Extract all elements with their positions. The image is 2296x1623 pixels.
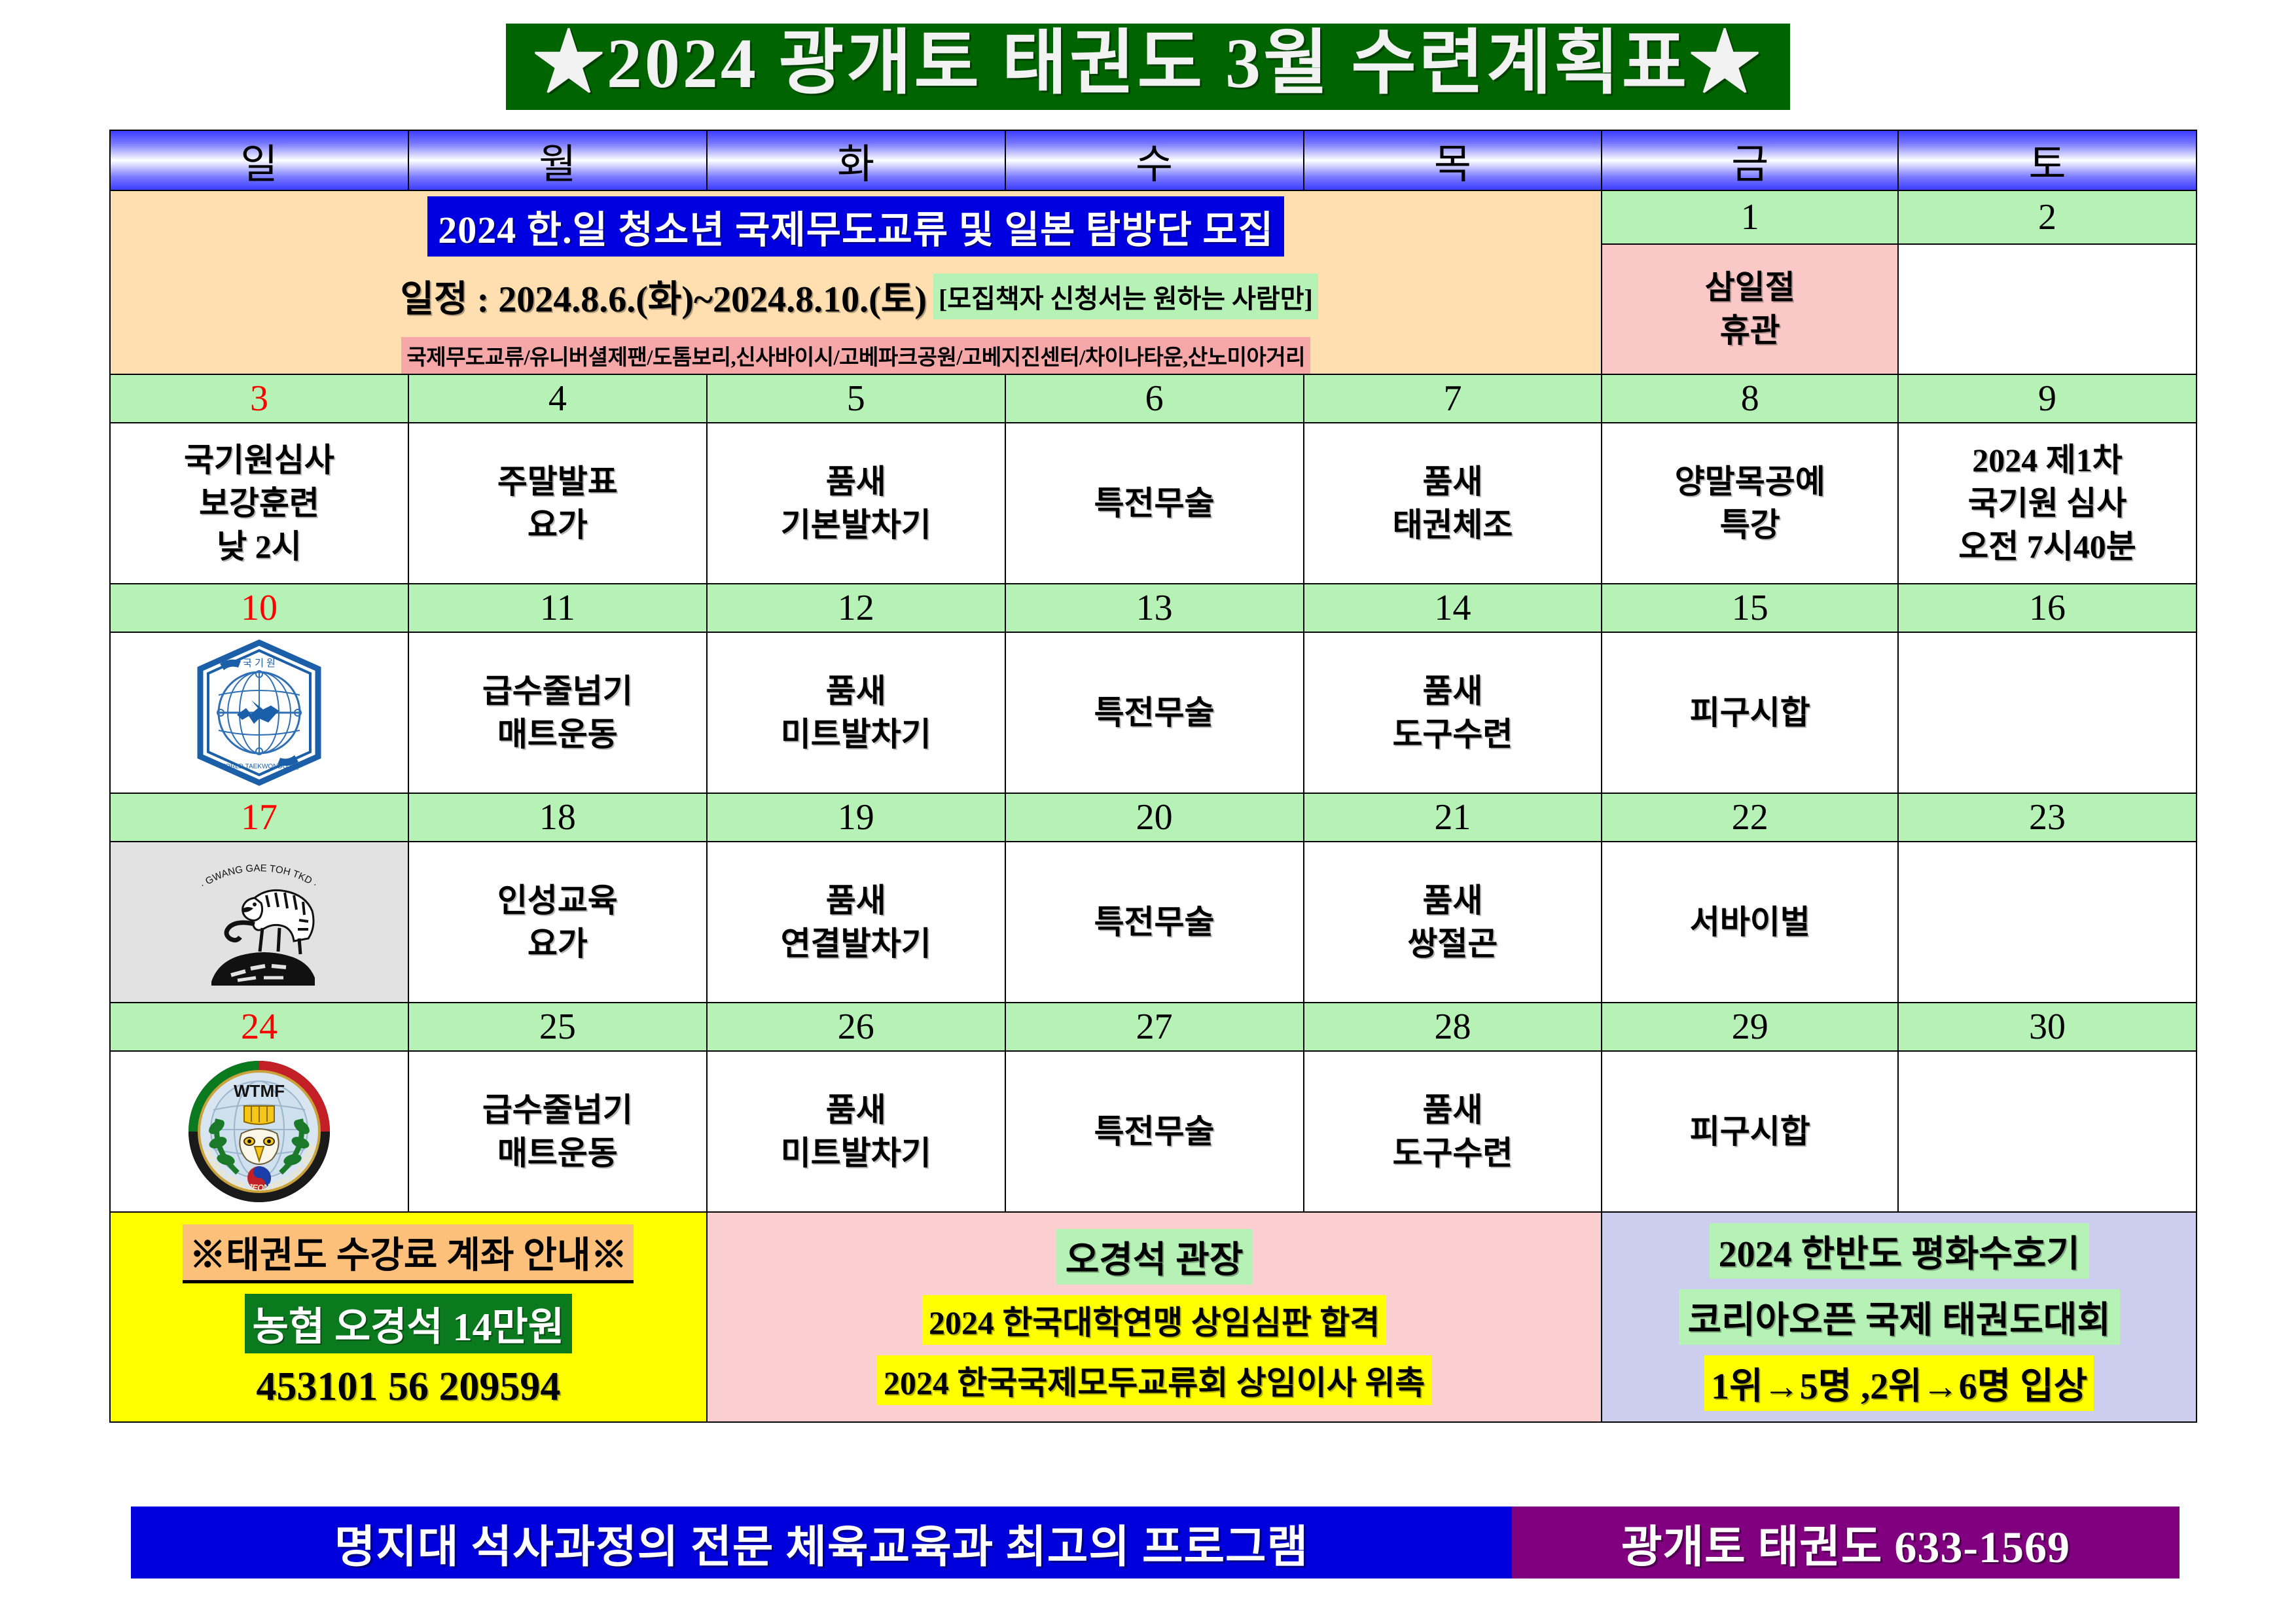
date-number-5: 5: [707, 374, 1005, 423]
announcement-schedule-row: 일정 : 2024.8.6.(화)~2024.8.10.(토)[모집책자 신청서…: [111, 270, 1601, 323]
kukkiwon-logo: 국 기 원 WORLD TAEKWONDO HQ: [181, 637, 338, 788]
date-number-13: 13: [1005, 584, 1304, 632]
banner-program-text: 명지대 석사과정의 전문 체육교육과 최고의 프로그램: [131, 1507, 1512, 1578]
date-number-30: 30: [1898, 1003, 2197, 1051]
date-number-17: 17: [110, 793, 408, 842]
event-line: 보강훈련: [111, 482, 408, 525]
weekday-sun: 일: [110, 130, 408, 190]
event-cell-5: 품새 기본발차기: [707, 423, 1005, 584]
date-number-16: 16: [1898, 584, 2197, 632]
master-credential-2: 2024 한국국제모두교류회 상임이사 위촉: [877, 1355, 1432, 1405]
event-cell-21: 품새 쌍절곤: [1304, 842, 1602, 1003]
event-line: 국기원 심사: [1899, 482, 2196, 525]
event-line: 요가: [409, 503, 706, 546]
event-line: 오전 7시40분: [1899, 525, 2196, 568]
event-line: 특전무술: [1006, 482, 1303, 525]
date-number-27: 27: [1005, 1003, 1304, 1051]
event-line: 양말목공예: [1602, 460, 1897, 503]
event-line: 매트운동: [409, 1132, 706, 1175]
event-cell-3: 국기원심사 보강훈련 낮 2시: [110, 423, 408, 584]
event-line: 삼일절: [1602, 266, 1897, 309]
event-line: 피구시합: [1602, 1110, 1897, 1153]
event-line: 품새: [1304, 669, 1602, 713]
tuition-bank-line: 농협 오경석 14만원: [245, 1294, 572, 1353]
weekday-header-row: 일 월 화 수 목 금 토: [110, 130, 2197, 190]
svg-text:국 기 원: 국 기 원: [243, 658, 276, 669]
event-cell-19: 품새 연결발차기: [707, 842, 1005, 1003]
event-line: 품새: [708, 1088, 1005, 1132]
page-title: ★2024 광개토 태권도 3월 수련계획표★: [506, 24, 1790, 110]
event-line: 품새: [1304, 460, 1602, 503]
event-cell-10: 국 기 원 WORLD TAEKWONDO HQ: [110, 632, 408, 793]
event-cell-8: 양말목공예 특강: [1602, 423, 1898, 584]
event-line: 품새: [708, 460, 1005, 503]
date-number-14: 14: [1304, 584, 1602, 632]
week-2-event-row: 국기원심사 보강훈련 낮 2시 주말발표 요가 품새 기본발차기 특전무술 품새…: [110, 423, 2197, 584]
date-number-11: 11: [408, 584, 707, 632]
event-cell-22: 서바이벌: [1602, 842, 1898, 1003]
date-number-29: 29: [1602, 1003, 1898, 1051]
event-line: 도구수련: [1304, 713, 1602, 756]
weekday-fri: 금: [1602, 130, 1898, 190]
event-cell-9: 2024 제1차 국기원 심사 오전 7시40분: [1898, 423, 2197, 584]
competition-results: 1위→5명 ,2위→6명 입상: [1704, 1355, 2094, 1411]
event-cell-2: [1898, 244, 2197, 374]
date-number-3: 3: [110, 374, 408, 423]
competition-box: 2024 한반도 평화수호기 코리아오픈 국제 태권도대회 1위→5명 ,2위→…: [1602, 1212, 2197, 1422]
date-number-23: 23: [1898, 793, 2197, 842]
event-line: 미트발차기: [708, 713, 1005, 756]
event-cell-30: [1898, 1051, 2197, 1212]
event-line: 품새: [1304, 1088, 1602, 1132]
master-name: 오경석 관장: [1056, 1229, 1253, 1285]
event-cell-14: 품새 도구수련: [1304, 632, 1602, 793]
week-4-number-row: 17 18 19 20 21 22 23: [110, 793, 2197, 842]
date-number-2: 2: [1898, 190, 2197, 244]
event-cell-25: 급수줄넘기 매트운동: [408, 1051, 707, 1212]
date-number-12: 12: [707, 584, 1005, 632]
master-box: 오경석 관장 2024 한국대학연맹 상임심판 합격 2024 한국국제모두교류…: [707, 1212, 1602, 1422]
event-line: 급수줄넘기: [409, 669, 706, 713]
date-number-22: 22: [1602, 793, 1898, 842]
bottom-banner: 명지대 석사과정의 전문 체육교육과 최고의 프로그램 광개토 태권도 633-…: [131, 1507, 2179, 1578]
competition-event-sub: 코리아오픈 국제 태권도대회: [1679, 1289, 2120, 1345]
event-line: 특전무술: [1006, 901, 1303, 944]
week-5-number-row: 24 25 26 27 28 29 30: [110, 1003, 2197, 1051]
event-cell-27: 특전무술: [1005, 1051, 1304, 1212]
event-cell-13: 특전무술: [1005, 632, 1304, 793]
week-3-number-row: 10 11 12 13 14 15 16: [110, 584, 2197, 632]
date-number-9: 9: [1898, 374, 2197, 423]
weekday-mon: 월: [408, 130, 707, 190]
date-number-8: 8: [1602, 374, 1898, 423]
date-number-6: 6: [1005, 374, 1304, 423]
event-line: 휴관: [1602, 309, 1897, 352]
event-cell-16: [1898, 632, 2197, 793]
event-line: 요가: [409, 922, 706, 965]
tuition-heading: ※태권도 수강료 계좌 안내※: [183, 1224, 634, 1283]
date-number-24: 24: [110, 1003, 408, 1051]
date-number-28: 28: [1304, 1003, 1602, 1051]
svg-text:· GWANG GAE TOH TKD ·: · GWANG GAE TOH TKD ·: [198, 863, 319, 891]
event-cell-1: 삼일절 휴관: [1602, 244, 1898, 374]
event-cell-24: WTMF WORLD TEUK JEON MOO SUL FEDERATION: [110, 1051, 408, 1212]
event-cell-15: 피구시합: [1602, 632, 1898, 793]
event-line: 품새: [708, 669, 1005, 713]
event-cell-4: 주말발표 요가: [408, 423, 707, 584]
event-line: 미트발차기: [708, 1132, 1005, 1175]
event-line: 태권체조: [1304, 503, 1602, 546]
competition-event-name: 2024 한반도 평화수호기: [1710, 1223, 2089, 1279]
page-title-wrap: ★2024 광개토 태권도 3월 수련계획표★: [0, 0, 2296, 110]
event-line: 피구시합: [1602, 691, 1897, 734]
event-cell-6: 특전무술: [1005, 423, 1304, 584]
wtmf-eagle-logo: WTMF WORLD TEUK JEON MOO SUL FEDERATION: [177, 1056, 341, 1207]
event-line: 도구수련: [1304, 1132, 1602, 1175]
event-cell-26: 품새 미트발차기: [707, 1051, 1005, 1212]
event-cell-11: 급수줄넘기 매트운동: [408, 632, 707, 793]
announcement-schedule: 일정 : 2024.8.6.(화)~2024.8.10.(토): [394, 270, 933, 323]
date-number-1: 1: [1602, 190, 1898, 244]
tuition-account-number: 453101 56 209594: [256, 1364, 560, 1410]
event-cell-12: 품새 미트발차기: [707, 632, 1005, 793]
event-cell-28: 품새 도구수련: [1304, 1051, 1602, 1212]
weekday-thu: 목: [1304, 130, 1602, 190]
training-schedule-table: 일 월 화 수 목 금 토 2024 한.일 청소년 국제무도교류 및 일본 탐…: [109, 130, 2197, 1423]
announcement-block: 2024 한.일 청소년 국제무도교류 및 일본 탐방단 모집 일정 : 202…: [110, 190, 1602, 374]
calendar-page: ★2024 광개토 태권도 3월 수련계획표★ 일 월 화 수 목 금 토 20…: [0, 0, 2296, 1623]
date-number-26: 26: [707, 1003, 1005, 1051]
gwanggaetoh-tiger-logo: · GWANG GAE TOH TKD ·: [177, 847, 341, 997]
event-line: 품새: [708, 879, 1005, 922]
announcement-itinerary: 국제무도교류/유니버셜제팬/도톰보리,신사바이시/고베파크공원/고베지진센터/차…: [401, 337, 1310, 374]
date-number-20: 20: [1005, 793, 1304, 842]
event-line: 연결발차기: [708, 922, 1005, 965]
svg-text:WORLD TAEKWONDO HQ: WORLD TAEKWONDO HQ: [219, 763, 300, 770]
event-line: 주말발표: [409, 460, 706, 503]
event-line: 특전무술: [1006, 691, 1303, 734]
footer-row: ※태권도 수강료 계좌 안내※ 농협 오경석 14만원 453101 56 20…: [110, 1212, 2197, 1422]
date-number-19: 19: [707, 793, 1005, 842]
weekday-sat: 토: [1898, 130, 2197, 190]
date-number-25: 25: [408, 1003, 707, 1051]
event-cell-23: [1898, 842, 2197, 1003]
event-line: 2024 제1차: [1899, 438, 2196, 482]
svg-text:WTMF: WTMF: [234, 1081, 285, 1101]
weekday-wed: 수: [1005, 130, 1304, 190]
date-number-15: 15: [1602, 584, 1898, 632]
event-line: 국기원심사: [111, 438, 408, 482]
week-2-number-row: 3 4 5 6 7 8 9: [110, 374, 2197, 423]
event-cell-29: 피구시합: [1602, 1051, 1898, 1212]
announcement-headline: 2024 한.일 청소년 국제무도교류 및 일본 탐방단 모집: [427, 196, 1284, 257]
event-cell-20: 특전무술: [1005, 842, 1304, 1003]
event-line: 인성교육: [409, 879, 706, 922]
event-line: 특강: [1602, 503, 1897, 546]
tuition-box: ※태권도 수강료 계좌 안내※ 농협 오경석 14만원 453101 56 20…: [110, 1212, 707, 1422]
weekday-tue: 화: [707, 130, 1005, 190]
event-line: 품새: [1304, 879, 1602, 922]
event-line: 특전무술: [1006, 1110, 1303, 1153]
event-line: 매트운동: [409, 713, 706, 756]
date-number-21: 21: [1304, 793, 1602, 842]
announcement-note: [모집책자 신청서는 원하는 사람만]: [933, 274, 1318, 319]
event-cell-17: · GWANG GAE TOH TKD ·: [110, 842, 408, 1003]
week-1-number-row: 2024 한.일 청소년 국제무도교류 및 일본 탐방단 모집 일정 : 202…: [110, 190, 2197, 244]
date-number-10: 10: [110, 584, 408, 632]
event-cell-7: 품새 태권체조: [1304, 423, 1602, 584]
date-number-18: 18: [408, 793, 707, 842]
event-line: 쌍절곤: [1304, 922, 1602, 965]
event-line: 기본발차기: [708, 503, 1005, 546]
banner-contact-text: 광개토 태권도 633-1569: [1512, 1507, 2179, 1578]
week-4-event-row: · GWANG GAE TOH TKD ·: [110, 842, 2197, 1003]
event-line: 급수줄넘기: [409, 1088, 706, 1132]
event-line: 서바이벌: [1602, 901, 1897, 944]
date-number-7: 7: [1304, 374, 1602, 423]
event-cell-18: 인성교육 요가: [408, 842, 707, 1003]
week-5-event-row: WTMF WORLD TEUK JEON MOO SUL FEDERATION …: [110, 1051, 2197, 1212]
event-line: 낮 2시: [111, 525, 408, 568]
date-number-4: 4: [408, 374, 707, 423]
master-credential-1: 2024 한국대학연맹 상임심판 합격: [922, 1295, 1387, 1345]
week-3-event-row: 국 기 원 WORLD TAEKWONDO HQ 급수줄넘기 매트운동 품새 미…: [110, 632, 2197, 793]
